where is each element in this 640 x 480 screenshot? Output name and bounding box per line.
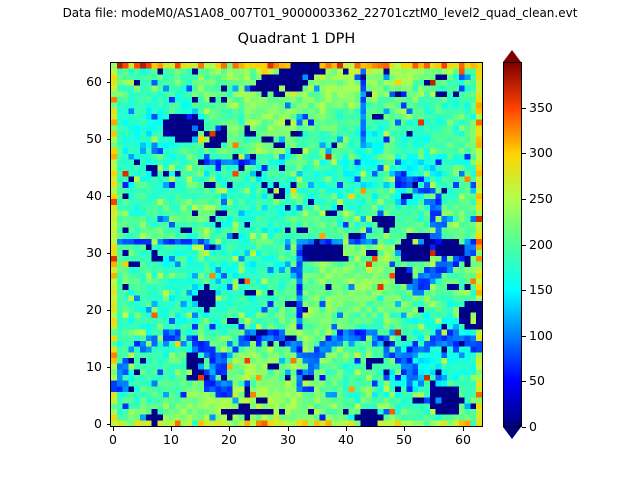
y-tick-mark	[107, 310, 111, 311]
x-tick-mark	[346, 427, 347, 431]
page-title: Quadrant 1 DPH	[110, 30, 483, 48]
colorbar-tick-mark	[522, 108, 526, 109]
y-tick-mark	[107, 82, 111, 83]
heatmap-axes	[110, 62, 483, 427]
colorbar-tick-label: 200	[529, 238, 553, 252]
colorbar-under-arrow-icon	[503, 427, 521, 439]
x-tick-mark	[288, 427, 289, 431]
y-tick-label: 20	[52, 303, 102, 317]
x-tick-label: 20	[204, 433, 254, 447]
x-tick-label: 50	[379, 433, 429, 447]
x-tick-mark	[229, 427, 230, 431]
colorbar-tick-mark	[522, 427, 526, 428]
colorbar-tick-label: 0	[529, 420, 537, 434]
data-file-suptitle: Data file: modeM0/AS1A08_007T01_90000033…	[0, 6, 640, 21]
x-tick-mark	[404, 427, 405, 431]
colorbar-tick-label: 100	[529, 329, 553, 343]
y-tick-mark	[107, 253, 111, 254]
y-tick-mark	[107, 424, 111, 425]
y-tick-mark	[107, 196, 111, 197]
colorbar-tick-mark	[522, 245, 526, 246]
detector-heatmap	[111, 63, 482, 426]
colorbar-tick-mark	[522, 199, 526, 200]
colorbar-tick-mark	[522, 290, 526, 291]
colorbar-tick-label: 300	[529, 146, 553, 160]
colorbar-tick-label: 150	[529, 283, 553, 297]
x-tick-mark	[113, 427, 114, 431]
colorbar-over-arrow-icon	[503, 50, 521, 62]
colorbar-tick-label: 50	[529, 374, 545, 388]
colorbar-gradient	[504, 63, 521, 426]
colorbar-tick-mark	[522, 336, 526, 337]
x-tick-label: 0	[88, 433, 138, 447]
y-tick-label: 10	[52, 360, 102, 374]
colorbar-body	[503, 62, 522, 427]
y-tick-label: 60	[52, 75, 102, 89]
colorbar: 050100150200250300350	[503, 50, 522, 439]
x-tick-label: 30	[263, 433, 313, 447]
y-tick-mark	[107, 367, 111, 368]
colorbar-tick-label: 350	[529, 101, 553, 115]
y-tick-label: 30	[52, 246, 102, 260]
colorbar-tick-mark	[522, 153, 526, 154]
y-tick-label: 50	[52, 132, 102, 146]
y-tick-label: 0	[52, 417, 102, 431]
colorbar-tick-label: 250	[529, 192, 553, 206]
colorbar-tick-mark	[522, 381, 526, 382]
x-tick-mark	[171, 427, 172, 431]
x-tick-label: 60	[438, 433, 488, 447]
y-tick-mark	[107, 139, 111, 140]
y-tick-label: 40	[52, 189, 102, 203]
matplotlib-figure: Data file: modeM0/AS1A08_007T01_90000033…	[0, 0, 640, 480]
x-tick-label: 40	[321, 433, 371, 447]
x-tick-label: 10	[146, 433, 196, 447]
x-tick-mark	[463, 427, 464, 431]
